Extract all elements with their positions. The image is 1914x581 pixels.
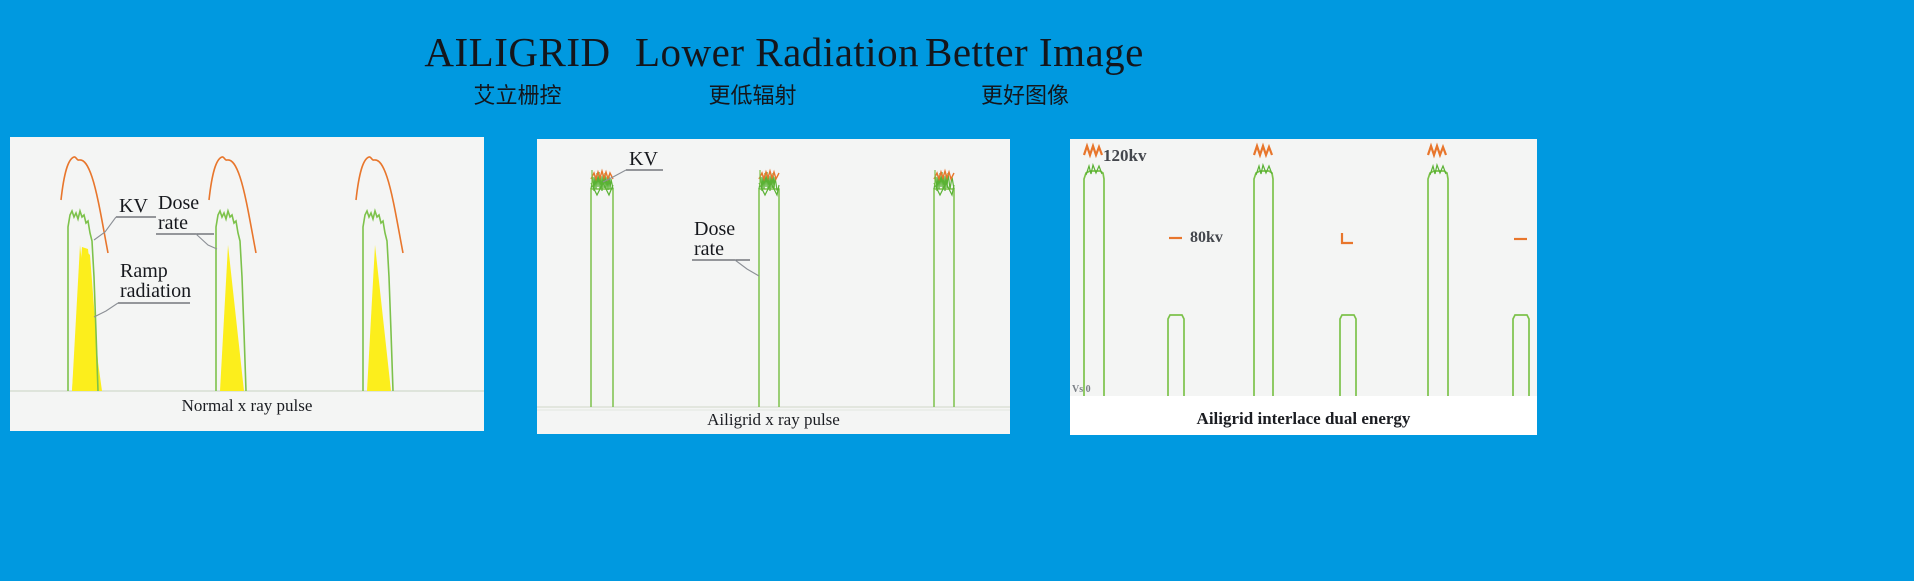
header-column-lower-radiation: Lower Radiation 更低辐射 [635,28,870,112]
header-title-cn: 更低辐射 [635,82,870,112]
annotation-ramp-line2: radiation [120,280,191,302]
annotation-dose-rate: Dose rate [156,192,217,249]
legend-label-120kv: 120kv [1103,146,1146,166]
header-title-cn: 艾立栅控 [410,82,625,112]
normal-pulse-plot: KV Dose rate Ramp radiation [10,137,484,431]
annotation-ramp-radiation: Ramp radiation [94,260,191,317]
panel-caption-normal-pulse: Normal x ray pulse [10,396,484,416]
header-title-en: AILIGRID [410,28,625,76]
header-banner: AILIGRID 艾立栅控 Lower Radiation 更低辐射 Bette… [0,0,1914,130]
dose-rate-series [591,189,954,407]
dose-rate-high-energy-series [1084,171,1448,396]
kv-series [61,157,403,253]
chart-panel-normal-pulse: KV Dose rate Ramp radiation [10,137,484,431]
header-title-cn: 更好图像 [925,82,1125,112]
annotation-dose-line2: rate [158,212,188,234]
interlace-dual-energy-plot [1070,139,1537,396]
header-column-better-image: Better Image 更好图像 [925,28,1125,112]
axis-label-vs-zero: Vs 0 [1072,384,1091,395]
header-column-ailigrid: AILIGRID 艾立栅控 [410,28,625,112]
chart-panel-interlace-dual-energy [1070,139,1537,396]
legend-label-80kv: 80kv [1190,229,1223,247]
header-title-en: Better Image [925,28,1125,76]
chart-panel-ailigrid-pulse: KV Dose rate [537,139,1010,434]
ailigrid-pulse-plot: KV Dose rate [537,139,1010,434]
header-title-en: Lower Radiation [635,28,870,76]
annotation-dose-line2: rate [694,238,724,260]
annotation-dose-line1: Dose [694,218,735,240]
panel-caption-ailigrid-pulse: Ailigrid x ray pulse [537,410,1010,430]
dose-rate-noise [1086,165,1446,175]
annotation-dose-rate: Dose rate [692,218,759,276]
kv-series [591,171,954,179]
panel-caption-interlace-dual-energy: Ailigrid interlace dual energy [1070,409,1537,429]
annotation-ramp-line1: Ramp [120,260,168,282]
annotation-kv-text: KV [629,148,658,170]
annotation-dose-line1: Dose [158,192,199,214]
annotation-kv: KV [94,195,156,240]
annotation-kv-text: KV [119,195,148,217]
dose-rate-low-energy-series [1168,315,1529,396]
annotation-kv: KV [603,148,663,182]
